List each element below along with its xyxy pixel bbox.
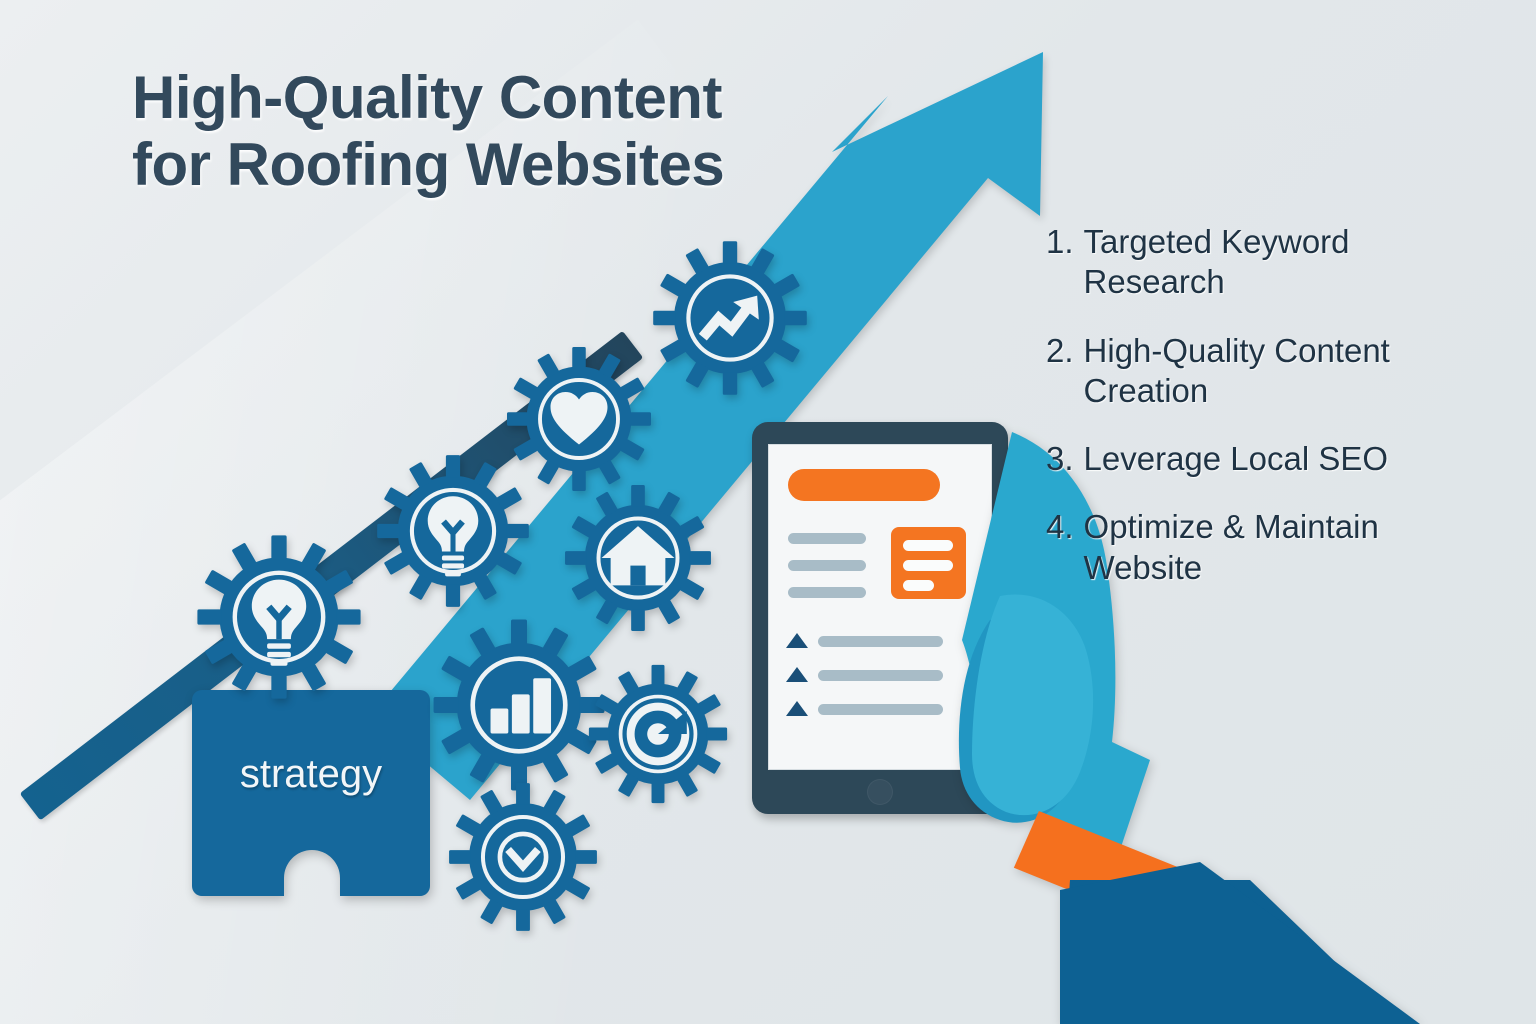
infographic-canvas: strategy xyxy=(0,0,1536,1024)
list-item-label: Optimize & Maintain Website xyxy=(1084,507,1496,588)
list-item: 1. Targeted Keyword Research xyxy=(1046,222,1496,303)
list-item-number: 1. xyxy=(1046,222,1074,303)
list-item-number: 2. xyxy=(1046,331,1074,412)
list-item-number: 3. xyxy=(1046,439,1074,479)
list-item-label: Leverage Local SEO xyxy=(1084,439,1496,479)
list-item-number: 4. xyxy=(1046,507,1074,588)
list-item: 2. High-Quality Content Creation xyxy=(1046,331,1496,412)
page-title: High-Quality Content for Roofing Website… xyxy=(132,64,892,198)
list-item: 3. Leverage Local SEO xyxy=(1046,439,1496,479)
list-item-label: Targeted Keyword Research xyxy=(1084,222,1496,303)
list-item-label: High-Quality Content Creation xyxy=(1084,331,1496,412)
steps-list: 1. Targeted Keyword Research 2. High-Qua… xyxy=(1046,222,1496,616)
list-item: 4. Optimize & Maintain Website xyxy=(1046,507,1496,588)
